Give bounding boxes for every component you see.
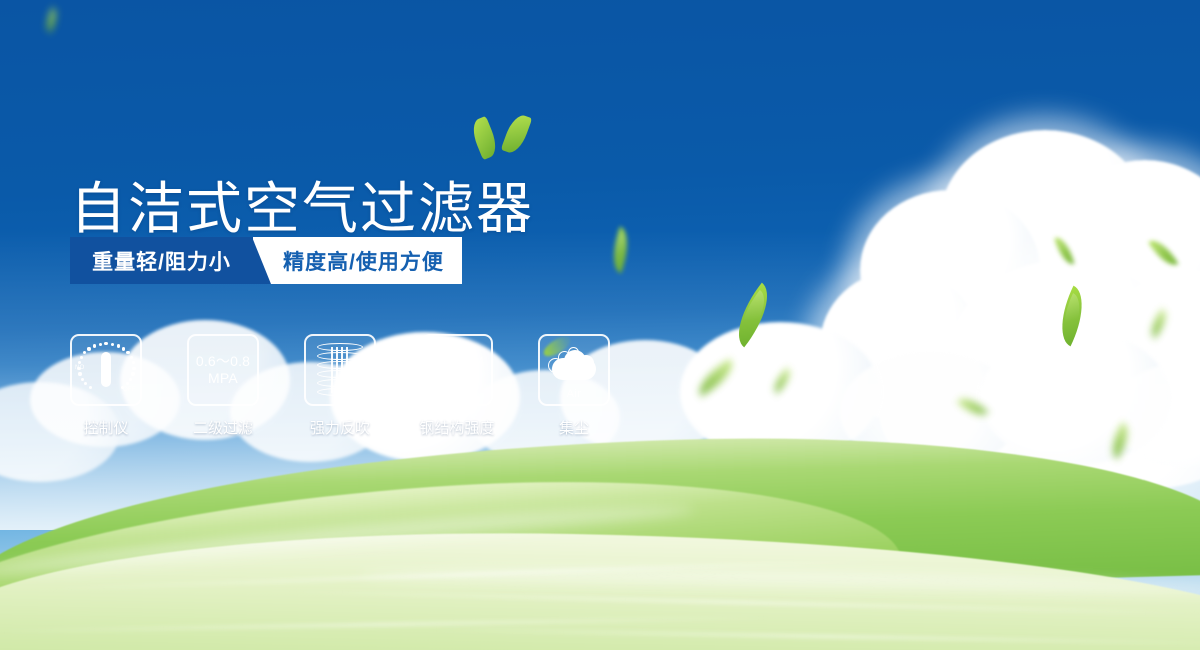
feature-icon-box: 3～8MM 钢板 <box>421 334 493 406</box>
feature-icon-box <box>304 334 376 406</box>
feature-item-blowback[interactable]: 强力反吹 <box>304 334 376 438</box>
subtitle-right-panel: 精度高/使用方便 <box>253 237 462 284</box>
pressure-value: 0.6～0.8 <box>196 353 250 370</box>
pressure-text-icon: 0.6～0.8 MPA <box>196 353 250 387</box>
floating-leaf <box>41 7 63 33</box>
feature-label: 钢结构强度 <box>420 417 495 438</box>
subtitle-left-text: 重量轻/阻力小 <box>92 246 231 276</box>
feature-list: NO OFF 控制仪 0.6～0.8 MPA 二级过滤 <box>70 334 610 438</box>
feature-label: 二级过滤 <box>193 417 253 438</box>
feature-item-filtration[interactable]: 0.6～0.8 MPA 二级过滤 <box>187 334 259 438</box>
subtitle-left-panel: 重量轻/阻力小 <box>70 237 253 284</box>
feature-icon-box: Air <box>538 334 610 406</box>
grass-field <box>0 435 1200 650</box>
page-title: 自洁式空气过滤器 <box>70 181 534 237</box>
steel-plate-text-icon: 3～8MM 钢板 <box>430 353 484 387</box>
coil-filter-icon <box>317 343 363 397</box>
sprout-decoration <box>471 108 537 160</box>
air-cloud-icon: Air <box>544 342 604 398</box>
dial-label-off: OFF <box>123 387 136 393</box>
sprout-leaf-right <box>501 112 533 156</box>
floating-leaf <box>605 226 636 273</box>
feature-label: 强力反吹 <box>310 417 370 438</box>
pressure-unit: MPA <box>196 370 250 387</box>
air-caption: Air <box>544 388 604 400</box>
feature-item-control[interactable]: NO OFF 控制仪 <box>70 334 142 438</box>
dial-label-on: NO <box>75 365 85 371</box>
product-banner: 自洁式空气过滤器 重量轻/阻力小 精度高/使用方便 <box>0 0 1200 650</box>
subtitle-bar: 重量轻/阻力小 精度高/使用方便 <box>70 237 462 284</box>
feature-icon-box: NO OFF <box>70 334 142 406</box>
steel-material: 钢板 <box>430 370 484 387</box>
dial-indicator <box>101 352 111 387</box>
steel-thickness: 3～8MM <box>430 353 484 370</box>
feature-icon-box: 0.6～0.8 MPA <box>187 334 259 406</box>
control-dial-icon: NO OFF <box>76 341 136 399</box>
feature-label: 集尘 <box>559 417 589 438</box>
feature-item-steel[interactable]: 3～8MM 钢板 钢结构强度 <box>421 334 493 438</box>
feature-item-dust[interactable]: Air 集尘 <box>538 334 610 438</box>
sprout-leaf-left <box>468 116 501 160</box>
feature-label: 控制仪 <box>83 417 128 438</box>
subtitle-right-text: 精度高/使用方便 <box>271 246 444 276</box>
